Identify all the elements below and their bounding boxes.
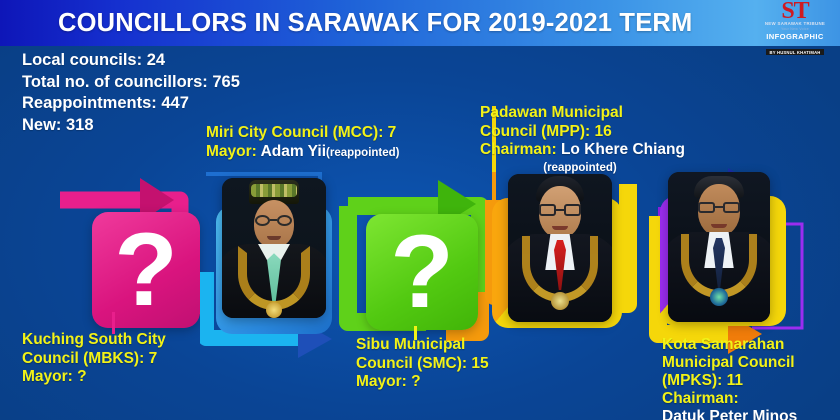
mbks-line1: Kuching South City (22, 331, 166, 348)
mpks-leader-name: Datuk Peter Minos (662, 408, 797, 420)
mpp-leader-name: Lo Khere Chiang (561, 141, 685, 158)
mpks-line3: (MPKS): 11 (662, 372, 743, 389)
mcc-line1: Miri City Council (MCC): 7 (206, 124, 396, 141)
caption-mbks: Kuching South City Council (MBKS): 7 May… (22, 331, 166, 387)
mpp-leader-status: (reappointed) (543, 162, 616, 174)
portrait-datuk-peter-minos (668, 172, 770, 322)
logo-credit: BY HUSNUL KHATIMAH (766, 49, 823, 55)
infographic-canvas: COUNCILLORS IN SARAWAK FOR 2019-2021 TER… (0, 0, 840, 420)
smc-line2: Council (SMC): 15 (356, 355, 489, 372)
mbks-unknown-tile: ? (92, 212, 200, 328)
smc-question-glyph: ? (390, 229, 454, 315)
logo-publication: NEW SARAWAK TRIBUNE (758, 21, 832, 27)
title-bar: COUNCILLORS IN SARAWAK FOR 2019-2021 TER… (0, 0, 840, 46)
stat-local-councils: Local councils: 24 (22, 50, 240, 72)
logo-tagline: Your New Voice (758, 27, 832, 32)
mpp-line2: Council (MPP): 16 (480, 123, 612, 140)
mpks-line2: Municipal Council (662, 354, 795, 371)
logo-kind: INFOGRAPHIC (758, 32, 832, 41)
mpp-line1: Padawan Municipal (480, 104, 623, 121)
smc-line3: Mayor: ? (356, 373, 421, 390)
stat-reappointments: Reappointments: 447 (22, 93, 240, 115)
page-title: COUNCILLORS IN SARAWAK FOR 2019-2021 TER… (58, 9, 692, 38)
mbks-question-glyph: ? (114, 227, 178, 313)
caption-mpks: Kota Samarahan Municipal Council (MPKS):… (662, 336, 797, 420)
mbks-line2: Council (MBKS): 7 (22, 350, 157, 367)
mcc-role-label: Mayor: (206, 143, 257, 160)
logo-mark: ST (758, 1, 832, 21)
portrait-lo-khere-chiang (508, 174, 612, 322)
mbks-line3: Mayor: ? (22, 368, 87, 385)
caption-mcc: Miri City Council (MCC): 7 Mayor: Adam Y… (206, 124, 400, 162)
mcc-leader-status: (reappointed) (326, 147, 399, 159)
caption-mpp: Padawan Municipal Council (MPP): 16 Chai… (480, 104, 685, 175)
stat-total-councillors: Total no. of councillors: 765 (22, 72, 240, 94)
mpks-line1: Kota Samarahan (662, 336, 784, 353)
smc-unknown-tile: ? (366, 214, 478, 330)
mpp-role-label: Chairman: (480, 141, 557, 158)
smc-line1: Sibu Municipal (356, 336, 465, 353)
caption-smc: Sibu Municipal Council (SMC): 15 Mayor: … (356, 336, 489, 392)
mpks-role-label: Chairman: (662, 390, 739, 407)
mcc-leader-name: Adam Yii (261, 143, 326, 160)
portrait-adam-yii (222, 178, 326, 318)
publication-logo: ST NEW SARAWAK TRIBUNE Your New Voice IN… (758, 1, 832, 46)
